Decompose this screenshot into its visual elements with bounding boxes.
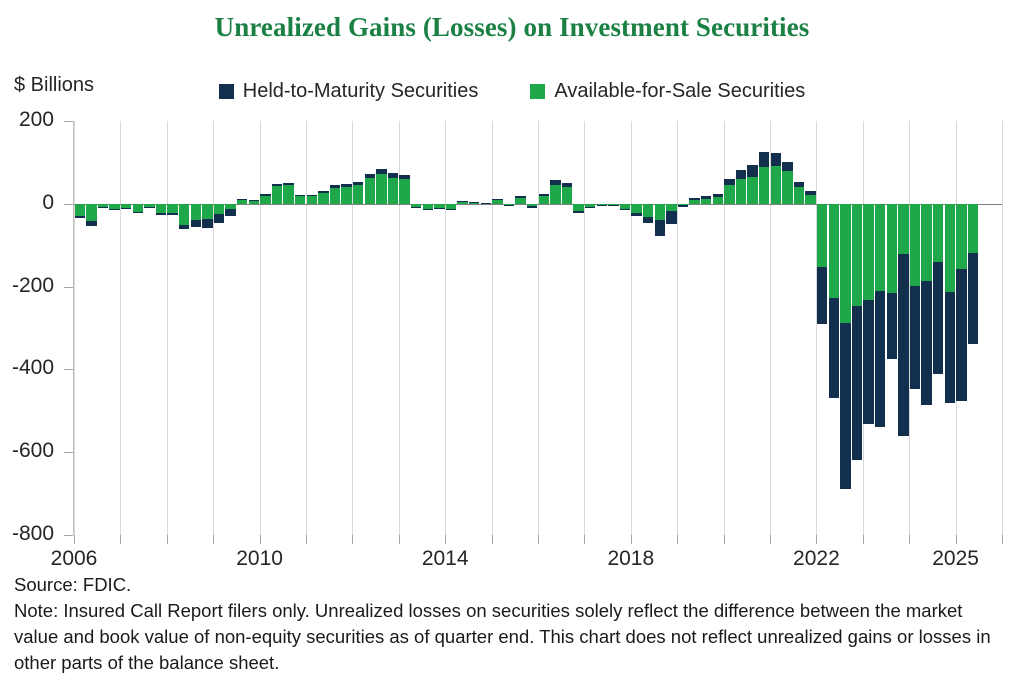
bar-2025Q1[interactable] xyxy=(956,121,967,535)
y-tick--200 xyxy=(64,287,73,288)
bar-segment-htm-2008Q3 xyxy=(191,220,202,227)
bar-segment-afs-2024Q2 xyxy=(921,204,932,281)
bar-segment-afs-2016Q3 xyxy=(562,187,573,204)
bar-segment-htm-2025Q1 xyxy=(956,269,967,401)
bar-segment-afs-2009Q4 xyxy=(249,201,260,204)
x-tick-2023 xyxy=(863,535,864,544)
bar-segment-afs-2012Q2 xyxy=(365,178,376,204)
chart-plot-area xyxy=(74,121,1002,535)
bar-segment-afs-2009Q3 xyxy=(237,200,248,204)
bar-2008Q1[interactable] xyxy=(167,121,178,535)
bar-segment-afs-2018Q1 xyxy=(631,204,642,213)
bar-2022Q2[interactable] xyxy=(829,121,840,535)
bar-2019Q2[interactable] xyxy=(689,121,700,535)
bar-segment-htm-2024Q1 xyxy=(910,286,921,390)
bar-2012Q4[interactable] xyxy=(388,121,399,535)
bar-2015Q2[interactable] xyxy=(504,121,515,535)
x-tick-2013 xyxy=(399,535,400,544)
bar-2007Q2[interactable] xyxy=(133,121,144,535)
bar-segment-htm-2023Q3 xyxy=(887,293,898,359)
bar-segment-htm-2014Q1 xyxy=(446,209,457,210)
bar-segment-htm-2012Q2 xyxy=(365,174,376,178)
bar-segment-afs-2023Q3 xyxy=(887,204,898,293)
bar-segment-htm-2013Q2 xyxy=(411,207,422,208)
x-tick-2008 xyxy=(167,535,168,544)
bar-segment-htm-2025Q2 xyxy=(968,253,979,343)
bar-2020Q3[interactable] xyxy=(747,121,758,535)
bar-2021Q2[interactable] xyxy=(782,121,793,535)
bar-2019Q4[interactable] xyxy=(713,121,724,535)
bar-2009Q1[interactable] xyxy=(214,121,225,535)
bar-segment-htm-2020Q2 xyxy=(736,170,747,179)
bar-2006Q1[interactable] xyxy=(75,121,86,535)
bar-segment-htm-2018Q2 xyxy=(643,217,654,223)
note-text: Note: Insured Call Report filers only. U… xyxy=(14,598,994,676)
bar-segment-htm-2011Q1 xyxy=(307,195,318,197)
x-tick-2019 xyxy=(677,535,678,544)
x-axis-label-2006: 2006 xyxy=(29,547,119,571)
bar-segment-htm-2017Q4 xyxy=(620,209,631,211)
bar-segment-afs-2012Q3 xyxy=(376,174,387,204)
bar-segment-afs-2018Q2 xyxy=(643,204,654,217)
y-axis-label--800: -800 xyxy=(0,522,54,546)
bar-2019Q1[interactable] xyxy=(678,121,689,535)
bar-segment-htm-2023Q4 xyxy=(898,254,909,435)
bar-segment-afs-2021Q4 xyxy=(805,195,816,204)
bar-2021Q3[interactable] xyxy=(794,121,805,535)
bar-segment-afs-2011Q2 xyxy=(318,193,329,204)
bar-2013Q3[interactable] xyxy=(423,121,434,535)
y-axis-label-0: 0 xyxy=(0,191,54,215)
bar-segment-htm-2007Q3 xyxy=(144,207,155,208)
bar-segment-afs-2009Q1 xyxy=(214,204,225,214)
bar-segment-htm-2012Q3 xyxy=(376,169,387,174)
x-tick-2021 xyxy=(770,535,771,544)
bar-segment-htm-2012Q4 xyxy=(388,173,399,178)
bar-segment-htm-2016Q1 xyxy=(539,194,550,196)
y-tick-200 xyxy=(64,121,73,122)
bar-2020Q1[interactable] xyxy=(724,121,735,535)
bar-segment-afs-2018Q3 xyxy=(655,204,666,221)
bar-segment-htm-2022Q2 xyxy=(829,298,840,397)
bar-segment-afs-2008Q2 xyxy=(179,204,190,226)
bar-segment-htm-2009Q3 xyxy=(237,199,248,200)
bar-2013Q1[interactable] xyxy=(399,121,410,535)
bar-2006Q2[interactable] xyxy=(86,121,97,535)
bar-2020Q4[interactable] xyxy=(759,121,770,535)
bar-2022Q1[interactable] xyxy=(817,121,828,535)
bar-2016Q1[interactable] xyxy=(539,121,550,535)
bar-segment-htm-2016Q2 xyxy=(550,180,561,185)
bar-2015Q3[interactable] xyxy=(515,121,526,535)
bar-segment-htm-2010Q1 xyxy=(260,194,271,196)
legend-item-held-to-maturity[interactable]: Held-to-Maturity Securities xyxy=(219,80,479,103)
bar-segment-htm-2013Q1 xyxy=(399,175,410,179)
bar-segment-afs-2014Q3 xyxy=(469,203,480,204)
bar-segment-afs-2020Q3 xyxy=(747,177,758,204)
bar-segment-htm-2011Q3 xyxy=(330,185,341,188)
bar-segment-afs-2012Q1 xyxy=(353,185,364,204)
bar-segment-afs-2023Q4 xyxy=(898,204,909,255)
bar-2016Q3[interactable] xyxy=(562,121,573,535)
bar-2011Q2[interactable] xyxy=(318,121,329,535)
bar-segment-afs-2020Q2 xyxy=(736,179,747,204)
bar-segment-htm-2020Q1 xyxy=(724,179,735,186)
bar-2007Q3[interactable] xyxy=(144,121,155,535)
bar-segment-htm-2007Q1 xyxy=(121,208,132,209)
bar-segment-htm-2016Q4 xyxy=(573,211,584,213)
bar-segment-htm-2013Q4 xyxy=(434,208,445,209)
bar-segment-htm-2024Q3 xyxy=(933,262,944,375)
bar-2011Q4[interactable] xyxy=(341,121,352,535)
bar-segment-afs-2024Q3 xyxy=(933,204,944,262)
bar-2009Q4[interactable] xyxy=(249,121,260,535)
bar-segment-afs-2023Q1 xyxy=(863,204,874,300)
bar-2014Q2[interactable] xyxy=(457,121,468,535)
bar-segment-htm-2010Q2 xyxy=(272,184,283,186)
chart-footnotes: Source: FDIC. Note: Insured Call Report … xyxy=(14,572,994,676)
bar-segment-afs-2010Q4 xyxy=(295,196,306,203)
x-tick-2011 xyxy=(306,535,307,544)
bar-segment-htm-2009Q1 xyxy=(214,214,225,223)
bar-2012Q3[interactable] xyxy=(376,121,387,535)
bar-2013Q4[interactable] xyxy=(434,121,445,535)
bar-segment-htm-2021Q2 xyxy=(782,162,793,170)
bar-2025Q2[interactable] xyxy=(968,121,979,535)
x-tick-2016 xyxy=(538,535,539,544)
bar-segment-afs-2021Q3 xyxy=(794,187,805,204)
bar-2011Q3[interactable] xyxy=(330,121,341,535)
bar-segment-afs-2019Q2 xyxy=(689,200,700,204)
y-tick-0 xyxy=(64,204,73,205)
x-tick-2025 xyxy=(956,535,957,544)
source-text: Source: FDIC. xyxy=(14,572,994,598)
y-tick--600 xyxy=(64,452,73,453)
bar-segment-htm-2012Q1 xyxy=(353,182,364,185)
bar-segment-afs-2008Q4 xyxy=(202,204,213,219)
bar-segment-htm-2015Q4 xyxy=(527,206,538,207)
bar-segment-afs-2018Q4 xyxy=(666,204,677,211)
bar-segment-htm-2019Q2 xyxy=(689,198,700,200)
bar-2014Q1[interactable] xyxy=(446,121,457,535)
bar-segment-afs-2020Q4 xyxy=(759,167,770,203)
bar-segment-htm-2019Q4 xyxy=(713,194,724,197)
x-tick-2015 xyxy=(492,535,493,544)
bar-segment-afs-2011Q3 xyxy=(330,188,341,204)
bar-segment-htm-2007Q2 xyxy=(133,212,144,213)
bar-segment-afs-2019Q4 xyxy=(713,197,724,204)
bar-segment-htm-2010Q4 xyxy=(295,195,306,197)
bar-segment-htm-2006Q3 xyxy=(98,207,109,208)
bar-segment-htm-2009Q2 xyxy=(225,209,236,216)
bar-segment-htm-2008Q2 xyxy=(179,225,190,228)
bar-segment-htm-2022Q1 xyxy=(817,267,828,324)
y-tick--400 xyxy=(64,369,73,370)
bar-2007Q4[interactable] xyxy=(156,121,167,535)
bar-2014Q3[interactable] xyxy=(469,121,480,535)
bar-2010Q3[interactable] xyxy=(283,121,294,535)
bar-2010Q2[interactable] xyxy=(272,121,283,535)
bar-segment-afs-2021Q1 xyxy=(771,166,782,204)
x-axis-label-2014: 2014 xyxy=(400,547,490,571)
bar-2014Q4[interactable] xyxy=(481,121,492,535)
bar-segment-afs-2006Q1 xyxy=(75,204,86,216)
y-tick--800 xyxy=(64,535,73,536)
bar-2013Q2[interactable] xyxy=(411,121,422,535)
bar-segment-afs-2011Q1 xyxy=(307,196,318,203)
bar-segment-htm-2015Q2 xyxy=(504,205,515,206)
bar-segment-htm-2018Q1 xyxy=(631,213,642,216)
bar-2024Q4[interactable] xyxy=(945,121,956,535)
bar-2010Q4[interactable] xyxy=(295,121,306,535)
legend-swatch-held-to-maturity xyxy=(219,84,234,99)
page-title: Unrealized Gains (Losses) on Investment … xyxy=(0,12,1024,43)
bar-segment-afs-2023Q2 xyxy=(875,204,886,291)
bar-segment-htm-2015Q1 xyxy=(492,199,503,200)
bar-2007Q1[interactable] xyxy=(121,121,132,535)
bar-segment-afs-2016Q4 xyxy=(573,204,584,211)
bar-segment-afs-2016Q2 xyxy=(550,185,561,204)
bar-2023Q3[interactable] xyxy=(887,121,898,535)
bar-segment-afs-2024Q1 xyxy=(910,204,921,286)
x-tick-2017 xyxy=(584,535,585,544)
bar-segment-afs-2008Q3 xyxy=(191,204,202,220)
bar-2023Q1[interactable] xyxy=(863,121,874,535)
bar-segment-htm-2018Q4 xyxy=(666,211,677,223)
bar-segment-afs-2025Q1 xyxy=(956,204,967,269)
bar-segment-afs-2022Q1 xyxy=(817,204,828,267)
x-tick-2007 xyxy=(120,535,121,544)
bar-segment-htm-2013Q3 xyxy=(423,209,434,211)
x-axis-label-2018: 2018 xyxy=(586,547,676,571)
y-axis-label--600: -600 xyxy=(0,439,54,463)
bar-2008Q2[interactable] xyxy=(179,121,190,535)
x-tick-2026 xyxy=(1002,535,1003,544)
bar-segment-htm-2021Q1 xyxy=(771,153,782,165)
bar-segment-afs-2015Q3 xyxy=(515,198,526,204)
x-axis-label-2010: 2010 xyxy=(215,547,305,571)
bar-segment-afs-2016Q1 xyxy=(539,196,550,203)
bar-2011Q1[interactable] xyxy=(307,121,318,535)
bar-segment-htm-2017Q3 xyxy=(608,205,619,206)
bar-segment-htm-2015Q3 xyxy=(515,196,526,198)
bar-2006Q3[interactable] xyxy=(98,121,109,535)
bar-segment-afs-2007Q4 xyxy=(156,204,167,213)
bar-2022Q4[interactable] xyxy=(852,121,863,535)
bar-segment-htm-2016Q3 xyxy=(562,183,573,187)
bar-2017Q2[interactable] xyxy=(597,121,608,535)
bar-segment-htm-2014Q4 xyxy=(481,203,492,204)
x-tick-2009 xyxy=(213,535,214,544)
bar-2019Q3[interactable] xyxy=(701,121,712,535)
bar-segment-afs-2006Q2 xyxy=(86,204,97,221)
x-tick-2006 xyxy=(74,535,75,544)
bar-segment-htm-2011Q2 xyxy=(318,191,329,193)
bar-2024Q3[interactable] xyxy=(933,121,944,535)
x-tick-2010 xyxy=(260,535,261,544)
y-axis-label--200: -200 xyxy=(0,274,54,298)
bar-2020Q2[interactable] xyxy=(736,121,747,535)
bar-segment-htm-2011Q4 xyxy=(341,184,352,187)
bar-2015Q1[interactable] xyxy=(492,121,503,535)
chart-legend: Held-to-Maturity Securities Available-fo… xyxy=(0,80,1024,103)
legend-label-available-for-sale: Available-for-Sale Securities xyxy=(554,80,805,103)
bar-segment-htm-2021Q3 xyxy=(794,182,805,187)
bar-segment-htm-2024Q4 xyxy=(945,292,956,404)
bar-segment-htm-2008Q4 xyxy=(202,219,213,228)
bar-segment-afs-2024Q4 xyxy=(945,204,956,292)
legend-swatch-available-for-sale xyxy=(530,84,545,99)
bar-2024Q2[interactable] xyxy=(921,121,932,535)
bar-2008Q4[interactable] xyxy=(202,121,213,535)
bar-segment-htm-2006Q2 xyxy=(86,221,97,226)
bar-2023Q2[interactable] xyxy=(875,121,886,535)
bar-segment-afs-2010Q2 xyxy=(272,186,283,203)
bar-segment-htm-2023Q2 xyxy=(875,291,886,428)
bar-segment-afs-2008Q1 xyxy=(167,204,178,213)
bar-segment-afs-2013Q1 xyxy=(399,179,410,204)
bar-2018Q4[interactable] xyxy=(666,121,677,535)
bar-segment-htm-2008Q1 xyxy=(167,213,178,215)
bar-segment-htm-2014Q2 xyxy=(457,201,468,202)
bar-2017Q1[interactable] xyxy=(585,121,596,535)
bar-segment-afs-2019Q3 xyxy=(701,199,712,204)
bar-segment-htm-2020Q3 xyxy=(747,165,758,177)
bar-segment-afs-2021Q2 xyxy=(782,171,793,204)
gridline-year-2026 xyxy=(1002,121,1003,535)
bar-2023Q4[interactable] xyxy=(898,121,909,535)
bar-segment-afs-2014Q2 xyxy=(457,202,468,204)
bar-2018Q1[interactable] xyxy=(631,121,642,535)
bar-2008Q3[interactable] xyxy=(191,121,202,535)
bar-segment-htm-2006Q4 xyxy=(109,209,120,210)
bar-segment-htm-2023Q1 xyxy=(863,300,874,424)
legend-item-available-for-sale[interactable]: Available-for-Sale Securities xyxy=(530,80,805,103)
bar-2006Q4[interactable] xyxy=(109,121,120,535)
x-axis-label-2022: 2022 xyxy=(771,547,861,571)
bar-segment-afs-2010Q1 xyxy=(260,196,271,204)
x-axis-label-2025: 2025 xyxy=(911,547,1001,571)
bar-segment-afs-2007Q2 xyxy=(133,204,144,212)
bar-segment-htm-2022Q4 xyxy=(852,306,863,459)
bar-2012Q1[interactable] xyxy=(353,121,364,535)
x-tick-2022 xyxy=(816,535,817,544)
bar-segment-htm-2019Q1 xyxy=(678,205,689,206)
bar-2018Q3[interactable] xyxy=(655,121,666,535)
legend-label-held-to-maturity: Held-to-Maturity Securities xyxy=(243,80,479,103)
bar-segment-htm-2020Q4 xyxy=(759,152,770,167)
chart-bars xyxy=(74,121,1002,535)
bar-segment-afs-2012Q4 xyxy=(388,178,399,204)
bar-segment-htm-2009Q4 xyxy=(249,200,260,201)
bar-2024Q1[interactable] xyxy=(910,121,921,535)
bar-2021Q1[interactable] xyxy=(771,121,782,535)
bar-segment-htm-2021Q4 xyxy=(805,191,816,194)
bar-2017Q4[interactable] xyxy=(620,121,631,535)
bar-segment-htm-2006Q1 xyxy=(75,216,86,218)
x-tick-2024 xyxy=(909,535,910,544)
bar-2009Q3[interactable] xyxy=(237,121,248,535)
bar-segment-htm-2017Q1 xyxy=(585,207,596,208)
y-axis-label--400: -400 xyxy=(0,356,54,380)
bar-segment-htm-2022Q3 xyxy=(840,323,851,489)
bar-segment-afs-2022Q4 xyxy=(852,204,863,307)
bar-2017Q3[interactable] xyxy=(608,121,619,535)
bar-segment-htm-2018Q3 xyxy=(655,220,666,236)
bar-segment-htm-2024Q2 xyxy=(921,281,932,405)
y-axis-label-200: 200 xyxy=(0,108,54,132)
bar-segment-htm-2019Q3 xyxy=(701,196,712,198)
bar-segment-htm-2010Q3 xyxy=(283,183,294,185)
bar-segment-htm-2017Q2 xyxy=(597,205,608,206)
x-tick-2018 xyxy=(631,535,632,544)
bar-2010Q1[interactable] xyxy=(260,121,271,535)
bar-segment-htm-2014Q3 xyxy=(469,202,480,203)
bar-segment-afs-2010Q3 xyxy=(283,185,294,204)
bar-segment-afs-2022Q3 xyxy=(840,204,851,323)
bar-2016Q2[interactable] xyxy=(550,121,561,535)
bar-segment-htm-2007Q4 xyxy=(156,213,167,215)
bar-segment-afs-2020Q1 xyxy=(724,185,735,204)
x-tick-2020 xyxy=(724,535,725,544)
bar-2015Q4[interactable] xyxy=(527,121,538,535)
bar-2018Q2[interactable] xyxy=(643,121,654,535)
bar-segment-afs-2015Q1 xyxy=(492,200,503,203)
bar-2009Q2[interactable] xyxy=(225,121,236,535)
bar-2021Q4[interactable] xyxy=(805,121,816,535)
bar-2016Q4[interactable] xyxy=(573,121,584,535)
bar-2012Q2[interactable] xyxy=(365,121,376,535)
x-tick-2012 xyxy=(352,535,353,544)
bar-segment-afs-2022Q2 xyxy=(829,204,840,298)
bar-2022Q3[interactable] xyxy=(840,121,851,535)
bar-segment-afs-2011Q4 xyxy=(341,187,352,204)
x-tick-2014 xyxy=(445,535,446,544)
bar-segment-afs-2025Q2 xyxy=(968,204,979,254)
